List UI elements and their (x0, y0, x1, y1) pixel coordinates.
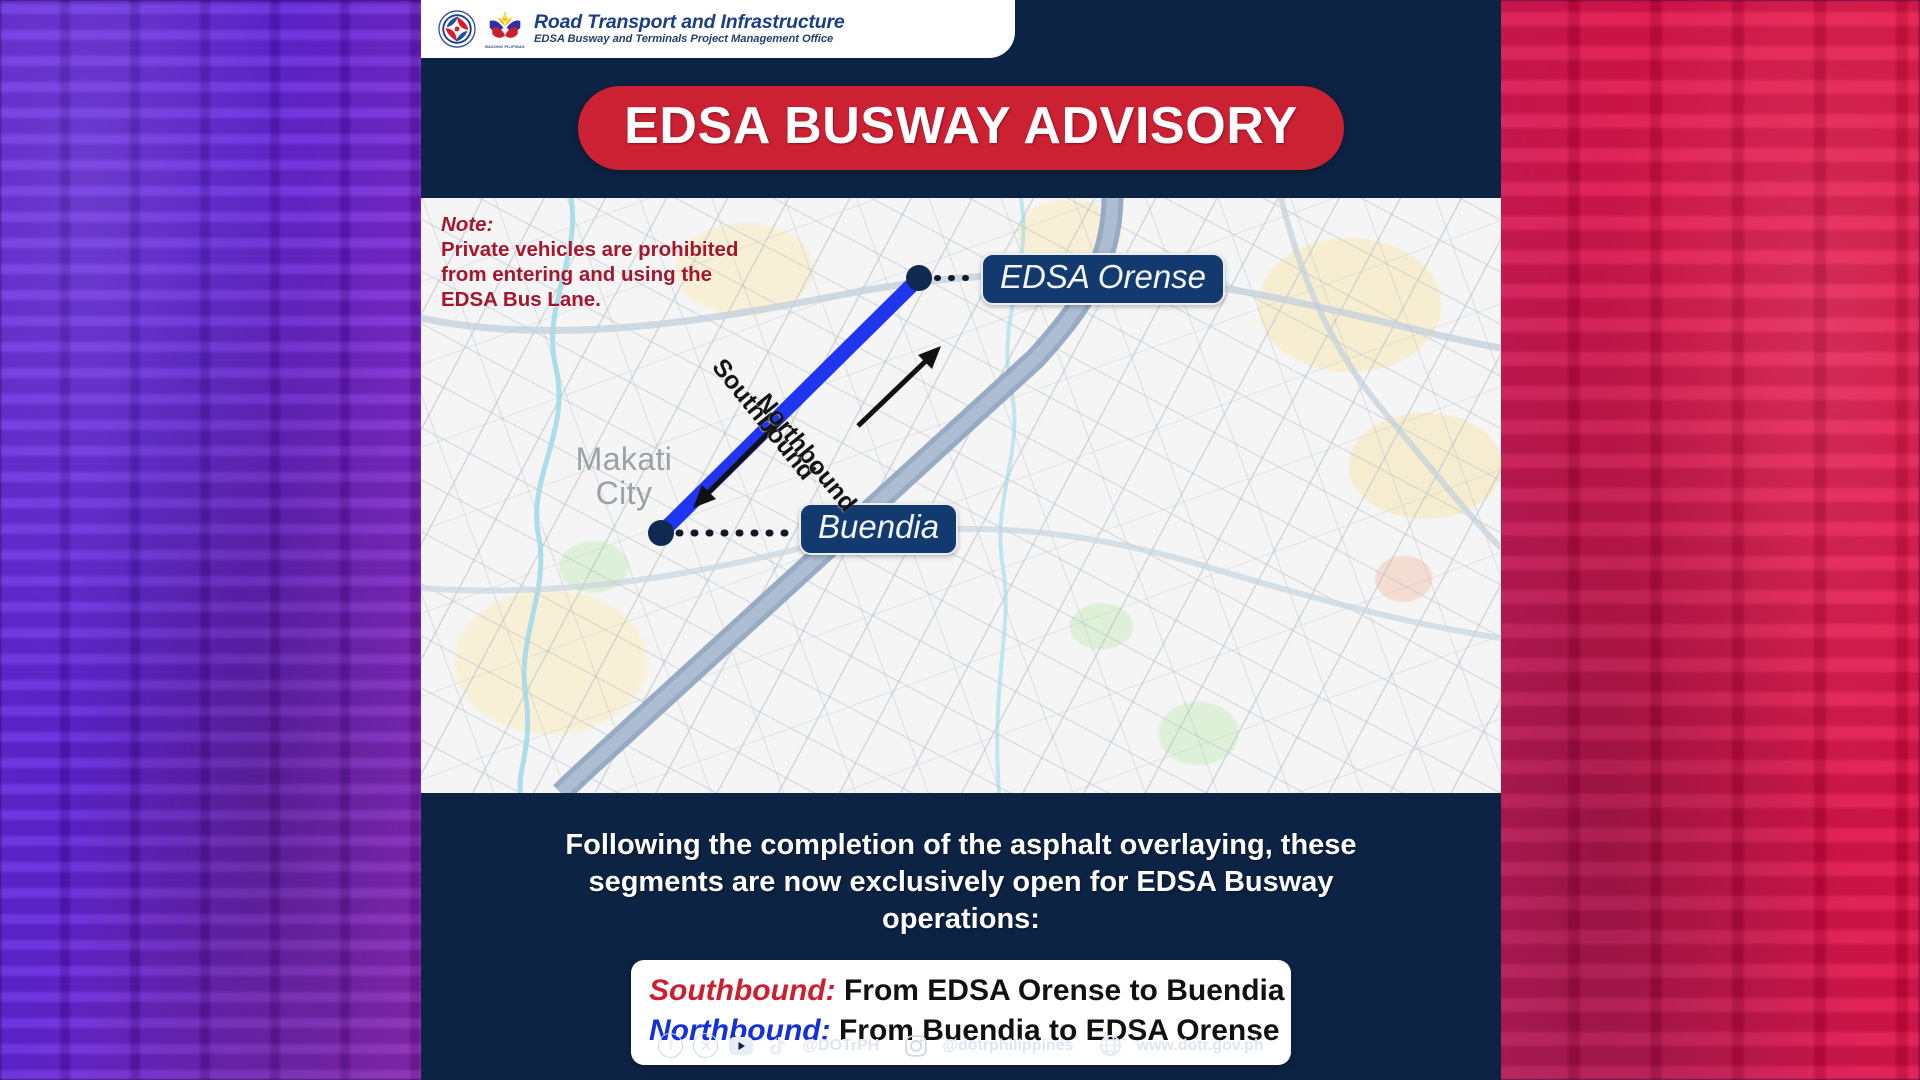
advisory-poster: BAGONG PILIPINAS Road Transport and Infr… (421, 0, 1501, 1080)
map-note-line-2: from entering and using the (441, 262, 738, 287)
map-note-label: Note: (441, 212, 738, 237)
instagram-icon[interactable] (903, 1033, 928, 1058)
social-footer: f ✕ @DOTrPH @dotrph (421, 1033, 1501, 1058)
station-dot-orense (906, 265, 932, 291)
map-city-label-line-2: City (529, 477, 719, 511)
org-title-block: Road Transport and Infrastructure EDSA B… (534, 12, 845, 45)
advisory-title-area: EDSA BUSWAY ADVISORY (421, 58, 1501, 198)
background-left-panel (0, 0, 432, 1080)
advisory-body: Following the completion of the asphalt … (421, 793, 1501, 1080)
background-right-panel (1498, 0, 1920, 1080)
globe-icon[interactable] (1098, 1033, 1123, 1058)
arrow-northeast (858, 346, 941, 426)
station-label-buendia: Buendia (799, 503, 958, 555)
tiktok-icon[interactable] (763, 1033, 788, 1058)
advisory-title-pill: EDSA BUSWAY ADVISORY (578, 86, 1344, 170)
advisory-lead-line-1: Following the completion of the asphalt … (521, 827, 1401, 864)
route-map: Note: Private vehicles are prohibited fr… (421, 198, 1501, 793)
bagong-pilipinas-caption: BAGONG PILIPINAS (485, 45, 525, 49)
map-note-line-1: Private vehicles are prohibited (441, 237, 738, 262)
website-url[interactable]: www.dotr.gov.ph (1137, 1037, 1264, 1055)
station-dot-buendia (648, 520, 674, 546)
route-value-southbound: From EDSA Orense to Buendia (844, 974, 1285, 1007)
map-note: Note: Private vehicles are prohibited fr… (441, 212, 738, 312)
org-title-secondary: EDSA Busway and Terminals Project Manage… (534, 33, 845, 45)
org-title-primary: Road Transport and Infrastructure (534, 12, 845, 33)
map-city-label-line-1: Makati (529, 443, 719, 477)
route-key-southbound: Southbound: (649, 974, 836, 1007)
social-handle-dotrph[interactable]: @DOTrPH (802, 1037, 879, 1055)
bagong-pilipinas-logo: BAGONG PILIPINAS (485, 9, 525, 49)
route-row-southbound: Southbound: From EDSA Orense to Buendia (649, 971, 1273, 1011)
map-note-line-3: EDSA Bus Lane. (441, 287, 738, 312)
header-logo-bar: BAGONG PILIPINAS Road Transport and Infr… (421, 0, 1015, 58)
youtube-icon[interactable] (728, 1033, 753, 1058)
map-city-label: Makati City (529, 443, 719, 511)
station-label-edsa-orense: EDSA Orense (981, 253, 1225, 305)
x-twitter-icon[interactable]: ✕ (693, 1033, 718, 1058)
social-handle-instagram[interactable]: @dotrphilippines (942, 1037, 1073, 1055)
facebook-icon[interactable]: f (658, 1033, 683, 1058)
dotr-seal-icon (438, 10, 476, 48)
advisory-lead-line-2: segments are now exclusively open for ED… (521, 864, 1401, 938)
page-title: EDSA BUSWAY ADVISORY (624, 97, 1298, 155)
advisory-lead-text: Following the completion of the asphalt … (521, 827, 1401, 938)
